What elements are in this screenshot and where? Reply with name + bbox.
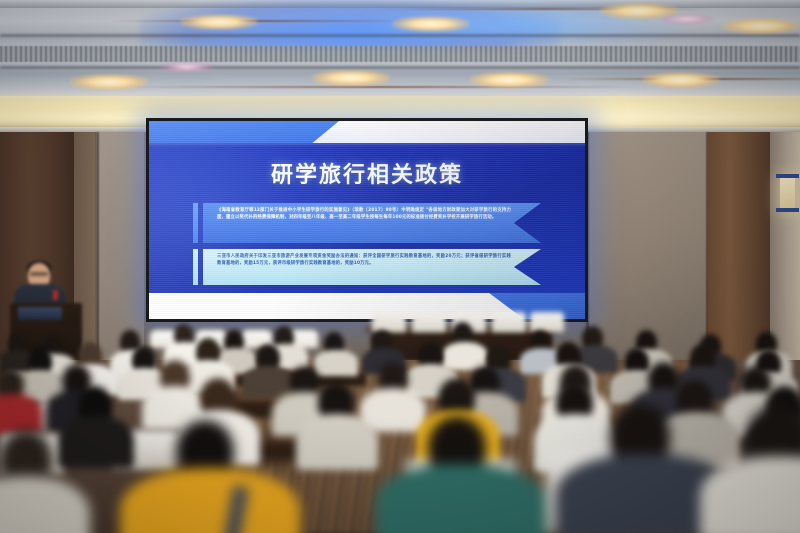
speaker-badge [53,290,58,300]
wall-sconce-light [780,178,795,210]
wall-far-right-edge [770,132,800,362]
wall-right-wood-column [708,132,770,362]
ceiling [0,0,800,96]
ceiling-beam-top [0,0,800,8]
conference-hall-scene: 研学旅行相关政策 《海南省教育厅等12部门关于推进中小学生研学旅行的实施意见》（… [0,0,800,533]
podium-nameplate [18,307,62,320]
wall-seam-left [96,132,99,362]
presentation-slide: 研学旅行相关政策 《海南省教育厅等12部门关于推进中小学生研学旅行的实施意见》（… [149,121,585,319]
policy-block-2-text: 三亚市人民政府关于印发三亚市旅游产业发展专项资金奖励办法的通知：获评全国研学旅行… [217,254,511,268]
ceiling-track-rail-1 [110,20,410,22]
slide-title: 研学旅行相关政策 [149,157,585,189]
led-screen: 研学旅行相关政策 《海南省教育厅等12部门关于推进中小学生研学旅行的实施意见》（… [146,118,588,322]
policy-block-1: 《海南省教育厅等12部门关于推进中小学生研学旅行的实施意见》（琼教〔2017〕9… [193,203,541,243]
policy-block-2-body: 三亚市人民政府关于印发三亚市旅游产业发展专项资金奖励办法的通知：获评全国研学旅行… [203,249,541,285]
wall-sconce-bar-top [776,174,799,178]
ceiling-downlight-8 [642,72,720,88]
wall-right-fabric-panel [588,132,708,362]
audience-shoulders [58,416,134,468]
head-table-chair-5 [530,312,564,332]
ceiling-downlight-4 [722,18,800,34]
ceiling-downlight-2 [392,16,470,32]
ceiling-downlight-1 [180,14,258,30]
audience-shoulders [242,366,294,398]
head-table-chair-2 [412,312,446,332]
ceiling-downlight-6 [312,70,390,86]
ceiling-downlight-5 [70,74,148,90]
policy-block-2-accent-bar [193,249,198,285]
audience-shoulders [296,414,378,470]
wall-sconce-bar-bottom [776,208,799,212]
policy-block-1-accent-bar [193,203,198,243]
audience-shoulders [376,464,546,533]
ceiling-shadow-line-1 [0,34,800,37]
ceiling-downlight-7 [470,72,548,88]
audience-shoulders [314,350,358,376]
wall-left-fabric-panel [96,132,144,362]
policy-block-2: 三亚市人民政府关于印发三亚市旅游产业发展专项资金奖励办法的通知：获评全国研学旅行… [193,249,541,285]
ceiling-track-rail-3 [120,86,640,88]
head-table-chair-4 [492,312,526,332]
ceiling-shadow-line-2 [0,66,800,69]
speaker-glasses [30,272,48,276]
ceiling-accent-light-1 [160,62,214,72]
ceiling-accent-light-2 [660,14,714,24]
ceiling-air-grille [0,46,800,62]
audience-shoulders [0,394,42,434]
policy-block-1-text: 《海南省教育厅等12部门关于推进中小学生研学旅行的实施意见》（琼教〔2017〕9… [217,208,511,222]
head-table-chair-1 [372,312,406,332]
policy-block-1-body: 《海南省教育厅等12部门关于推进中小学生研学旅行的实施意见》（琼教〔2017〕9… [203,203,541,243]
